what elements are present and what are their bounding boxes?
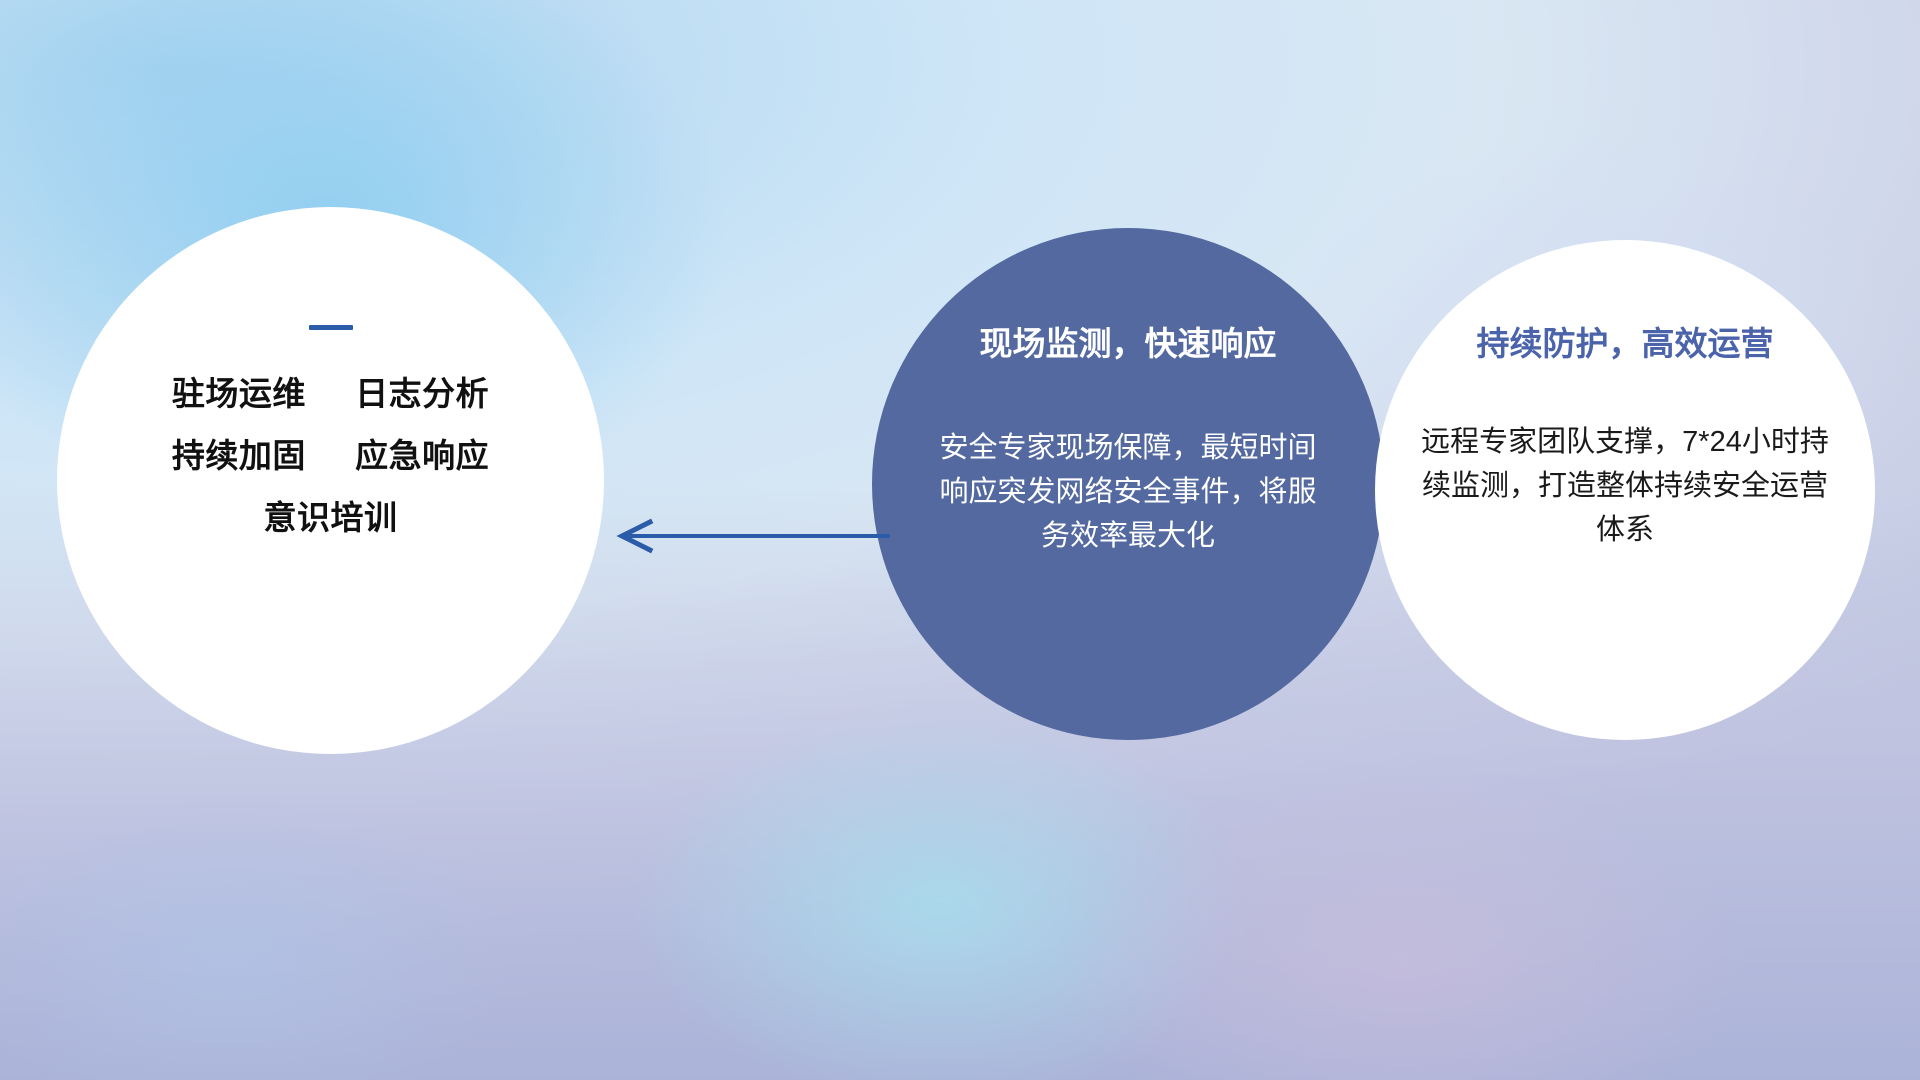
circle-capabilities-content: 驻场运维 日志分析 持续加固 应急响应 意识培训 [116,325,546,563]
capability-row-1: 驻场运维 日志分析 [172,377,489,410]
capability-row-2: 持续加固 应急响应 [172,439,489,472]
slide-canvas: 驻场运维 日志分析 持续加固 应急响应 意识培训 现场监测，快速响应 安全专家现… [0,0,1920,1080]
continuous-protection-title: 持续防护，高效运营 [1477,324,1774,364]
capability-row-3: 意识培训 [264,501,398,534]
background-glow-bottom-left [0,734,614,1080]
capability-item-yishipeixun: 意识培训 [264,499,398,536]
onsite-monitoring-title: 现场监测，快速响应 [980,324,1277,364]
circle-continuous-protection[interactable]: 持续防护，高效运营 远程专家团队支撑，7*24小时持续监测，打造整体持续安全运营… [1375,240,1875,740]
capability-item-zhuchangyunwei: 驻场运维 [172,375,306,412]
circle-continuous-protection-content: 持续防护，高效运营 远程专家团队支撑，7*24小时持续监测，打造整体持续安全运营… [1410,324,1840,552]
continuous-protection-body: 远程专家团队支撑，7*24小时持续监测，打造整体持续安全运营体系 [1420,420,1830,552]
circle-onsite-monitoring-content: 现场监测，快速响应 安全专家现场保障，最短时间响应突发网络安全事件，将服务效率最… [918,324,1338,558]
left-arrow-icon [608,516,890,556]
capability-item-yingjixiangying: 应急响应 [355,437,489,474]
background-glow-bottom-right [922,691,1882,1080]
circle-onsite-monitoring[interactable]: 现场监测，快速响应 安全专家现场保障，最短时间响应突发网络安全事件，将服务效率最… [872,228,1384,740]
onsite-monitoring-body: 安全专家现场保障，最短时间响应突发网络安全事件，将服务效率最大化 [938,426,1318,558]
capability-item-chixujiagu: 持续加固 [172,437,306,474]
accent-dash [309,325,353,330]
capability-item-rizhifenxi: 日志分析 [355,375,489,412]
circle-capabilities[interactable]: 驻场运维 日志分析 持续加固 应急响应 意识培训 [57,207,604,754]
